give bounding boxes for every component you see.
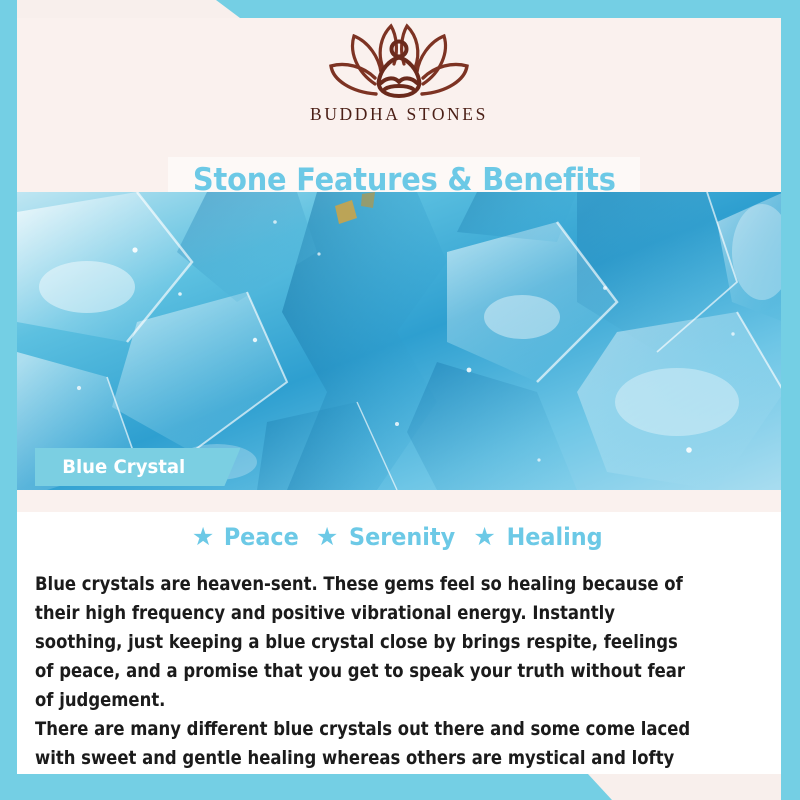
feature-label-peace: Peace: [224, 523, 299, 551]
feature-item-serenity: ★ Serenity: [316, 523, 460, 551]
body-paragraph-1: Blue crystals are heaven-sent. These gem…: [35, 570, 694, 715]
star-icon: ★: [192, 525, 214, 550]
lotus-meditation-figure-icon: [319, 22, 479, 106]
frame-top-accent: [0, 0, 800, 18]
body-copy: Blue crystals are heaven-sent. These gem…: [35, 570, 694, 774]
poster-canvas: BUDDHA STONES Stone Features & Benefits: [0, 0, 800, 800]
star-icon: ★: [316, 525, 338, 550]
brand-name: BUDDHA STONES: [310, 104, 488, 125]
feature-label-healing: Healing: [506, 523, 602, 551]
body-paragraph-2: There are many different blue crystals o…: [35, 715, 694, 774]
hero-image: Blue Crystal: [17, 192, 781, 490]
feature-item-healing: ★ Healing: [473, 523, 606, 551]
body-section: ★ Peace ★ Serenity ★ Healing Blue crysta…: [17, 490, 781, 774]
frame-left-accent: [0, 0, 17, 800]
feature-item-peace: ★ Peace: [192, 523, 302, 551]
feature-label-serenity: Serenity: [349, 523, 455, 551]
frame-bottom-accent: [0, 774, 800, 800]
brand-header: BUDDHA STONES: [17, 18, 781, 138]
hero-label-badge: Blue Crystal: [35, 448, 240, 486]
feature-keywords-row: ★ Peace ★ Serenity ★ Healing: [17, 523, 781, 551]
hero-label-text: Blue Crystal: [62, 456, 185, 478]
frame-right-accent: [781, 0, 800, 800]
content-card: BUDDHA STONES Stone Features & Benefits: [17, 18, 781, 774]
star-icon: ★: [473, 525, 495, 550]
